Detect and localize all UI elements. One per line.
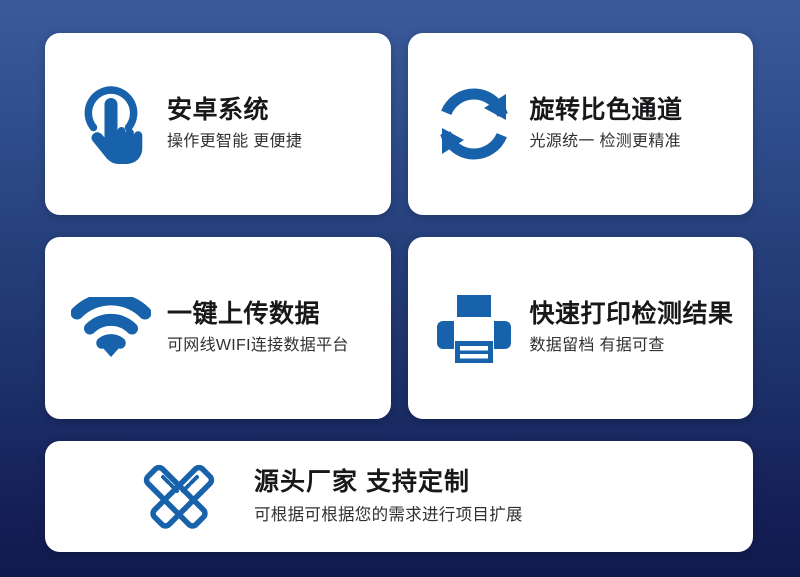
feature-title: 源头厂家 支持定制 [254,467,523,498]
feature-title: 旋转比色通道 [530,95,683,126]
feature-card-android[interactable]: 安卓系统 操作更智能 更便捷 [45,33,391,215]
wifi-icon [71,288,151,368]
feature-subtitle: 数据留档 有据可查 [530,336,734,357]
feature-card-upload[interactable]: 一键上传数据 可网线WIFI连接数据平台 [45,237,391,419]
feature-row-3: 源头厂家 支持定制 可根据可根据您的需求进行项目扩展 [45,441,753,552]
printer-icon [434,288,514,368]
feature-text-customization: 源头厂家 支持定制 可根据可根据您的需求进行项目扩展 [254,467,523,526]
feature-subtitle: 可网线WIFI连接数据平台 [167,336,349,357]
feature-card-rotating-channel[interactable]: 旋转比色通道 光源统一 检测更精准 [408,33,754,215]
rotate-refresh-icon [434,84,514,164]
feature-title: 一键上传数据 [167,299,349,330]
feature-text-android: 安卓系统 操作更智能 更便捷 [167,95,302,152]
feature-title: 快速打印检测结果 [530,299,734,330]
feature-row-2: 一键上传数据 可网线WIFI连接数据平台 快速打印检测结果 数据留档 有据可查 [45,237,753,419]
feature-subtitle: 可根据可根据您的需求进行项目扩展 [254,505,523,526]
feature-board: 安卓系统 操作更智能 更便捷 旋转比色通道 光源统一 检测更精准 [0,0,800,577]
feature-text-print: 快速打印检测结果 数据留档 有据可查 [530,299,734,356]
feature-card-customization[interactable]: 源头厂家 支持定制 可根据可根据您的需求进行项目扩展 [45,441,753,552]
feature-card-print[interactable]: 快速打印检测结果 数据留档 有据可查 [408,237,754,419]
feature-text-upload: 一键上传数据 可网线WIFI连接数据平台 [167,299,349,356]
feature-row-1: 安卓系统 操作更智能 更便捷 旋转比色通道 光源统一 检测更精准 [45,33,753,215]
feature-title: 安卓系统 [167,95,302,126]
feature-subtitle: 操作更智能 更便捷 [167,132,302,153]
touch-hand-icon [71,84,151,164]
feature-subtitle: 光源统一 检测更精准 [530,132,683,153]
crossed-pens-icon [140,458,218,536]
feature-text-rotating-channel: 旋转比色通道 光源统一 检测更精准 [530,95,683,152]
